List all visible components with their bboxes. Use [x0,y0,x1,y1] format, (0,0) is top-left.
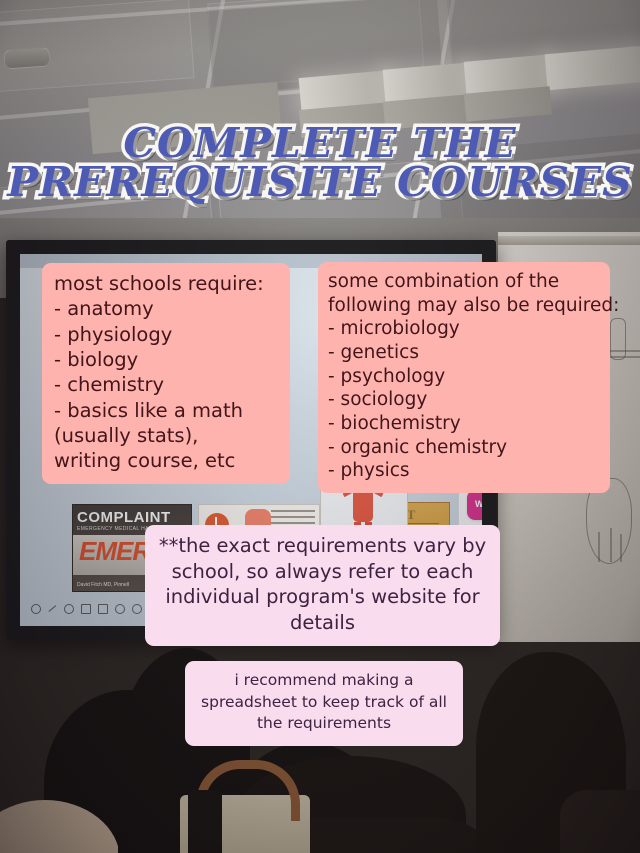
book-complaint-author: David Fitch MD, Pinnell [77,582,129,588]
caption-box-disclaimer: **the exact requirements vary by school,… [145,525,500,646]
book-complaint-title: COMPLAINT [77,509,187,526]
caption-line: most schools require: [54,271,280,296]
caption-line: writing course, etc [54,448,280,473]
filmstrip-icon[interactable] [98,604,108,614]
circle-icon[interactable] [31,604,41,614]
page-title: COMPLETE THE PREREQUISITE COURSES [0,124,640,201]
title-line-2: PREREQUISITE COURSES [0,163,640,202]
caption-line: - genetics [328,341,602,365]
caption-line: some combination of the [328,270,602,294]
caption-box-required-courses: most schools require: - anatomy - physio… [42,263,290,484]
whiteboard-tray [498,236,640,245]
page-icon[interactable] [81,604,91,614]
pen-icon[interactable] [49,606,57,613]
caption-line: - psychology [328,365,602,389]
caption-line: - chemistry [54,372,280,397]
caption-line: - organic chemistry [328,436,602,460]
caption-text: i recommend making a spreadsheet to keep… [199,670,449,735]
title-line-1: COMPLETE THE [0,124,640,163]
video-frame: COMPLAINT EMERGENCY MEDICAL HANDBOOK EME… [0,0,640,853]
settings-icon[interactable] [132,604,142,614]
water-bottle [188,790,222,853]
caption-text: **the exact requirements vary by school,… [157,533,488,636]
caption-line: - physics [328,459,602,483]
caption-line: - physiology [54,322,280,347]
caption-line: - anatomy [54,296,280,321]
caption-line: following may also be required: [328,294,602,318]
caption-line: - basics like a math [54,398,280,423]
caption-line: - sociology [328,388,602,412]
caption-line: - microbiology [328,317,602,341]
caption-line: (usually stats), [54,423,280,448]
caption-box-tip: i recommend making a spreadsheet to keep… [185,661,463,746]
caption-line: - biochemistry [328,412,602,436]
caption-box-optional-courses: some combination of the following may al… [318,262,610,493]
caption-line: - biology [54,347,280,372]
app-row: W / IY [467,490,482,520]
globe-icon[interactable] [115,604,125,614]
zoom-icon[interactable] [64,604,74,614]
app-row-label: W / IY [475,499,482,509]
student-silhouette [560,790,640,853]
ceiling-vent [3,46,50,69]
